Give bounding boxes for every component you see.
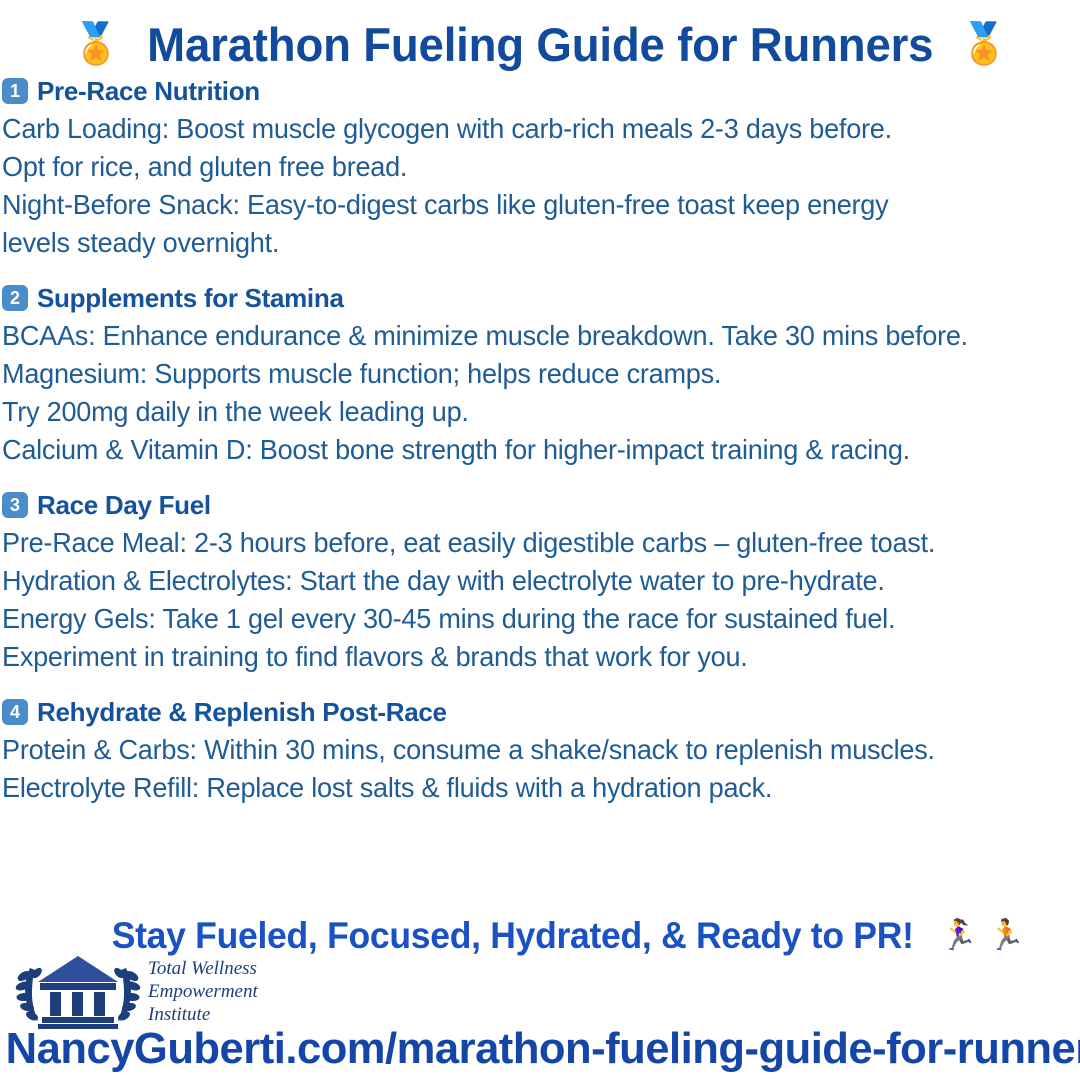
section-title: Rehydrate & Replenish Post-Race: [37, 697, 447, 728]
runner-woman-icon: 🏃‍♀️: [940, 921, 977, 951]
page-title: Marathon Fueling Guide for Runners: [147, 17, 933, 72]
sports-medal-icon-right: 🏅: [959, 24, 1009, 64]
section-body-line: Energy Gels: Take 1 gel every 30-45 mins…: [2, 600, 1060, 638]
section-body-line: Pre-Race Meal: 2-3 hours before, eat eas…: [2, 524, 1060, 562]
section-body-line: Opt for rice, and gluten free bread.: [2, 148, 1060, 186]
runner-man-icon: 🏃: [988, 921, 1025, 951]
section-title: Race Day Fuel: [37, 490, 211, 521]
section-pre-race-nutrition: 1 Pre-Race Nutrition Carb Loading: Boost…: [2, 74, 1076, 262]
section-header: 3 Race Day Fuel: [2, 488, 1076, 522]
section-title: Supplements for Stamina: [37, 283, 344, 314]
section-body-line: Try 200mg daily in the week leading up.: [2, 393, 1060, 431]
section-header: 2 Supplements for Stamina: [2, 281, 1076, 315]
sports-medal-icon-left: 🏅: [71, 24, 121, 64]
section-body-line: Hydration & Electrolytes: Start the day …: [2, 562, 1060, 600]
section-number-badge: 1: [2, 78, 28, 104]
section-header: 1 Pre-Race Nutrition: [2, 74, 1076, 108]
section-number-badge: 4: [2, 699, 28, 725]
section-number-badge: 2: [2, 285, 28, 311]
section-body-line: Calcium & Vitamin D: Boost bone strength…: [2, 431, 1060, 469]
section-body-line: Electrolyte Refill: Replace lost salts &…: [2, 769, 1060, 807]
section-body-line: Carb Loading: Boost muscle glycogen with…: [2, 110, 1060, 148]
section-body-line: Protein & Carbs: Within 30 mins, consume…: [2, 731, 1060, 769]
section-body-line: BCAAs: Enhance endurance & minimize musc…: [2, 317, 1060, 355]
brand-logo: Total Wellness Empowerment Institute: [14, 952, 258, 1030]
footer: Stay Fueled, Focused, Hydrated, & Ready …: [0, 912, 1080, 1080]
section-body-line: Magnesium: Supports muscle function; hel…: [2, 355, 1060, 393]
section-body-line: Night-Before Snack: Easy-to-digest carbs…: [2, 186, 1060, 224]
section-supplements-for-stamina: 2 Supplements for Stamina BCAAs: Enhance…: [2, 281, 1076, 469]
section-header: 4 Rehydrate & Replenish Post-Race: [2, 695, 1076, 729]
logo-wordmark: Total Wellness Empowerment Institute: [148, 957, 258, 1026]
section-race-day-fuel: 3 Race Day Fuel Pre-Race Meal: 2-3 hours…: [2, 488, 1076, 676]
temple-laurel-icon: [14, 952, 142, 1030]
website-url[interactable]: NancyGuberti.com/marathon-fueling-guide-…: [6, 1024, 1080, 1074]
infographic-page: 🏅 Marathon Fueling Guide for Runners 🏅 1…: [0, 0, 1080, 1080]
logo-line-1: Total Wellness: [148, 958, 257, 979]
section-number-badge: 3: [2, 492, 28, 518]
section-title: Pre-Race Nutrition: [37, 76, 260, 107]
section-rehydrate-replenish-post-race: 4 Rehydrate & Replenish Post-Race Protei…: [2, 695, 1076, 807]
logo-line-2: Empowerment: [148, 981, 258, 1002]
page-title-row: 🏅 Marathon Fueling Guide for Runners 🏅: [0, 0, 1080, 74]
sections-container: 1 Pre-Race Nutrition Carb Loading: Boost…: [0, 74, 1080, 807]
url-bar: NancyGuberti.com/marathon-fueling-guide-…: [0, 1024, 1080, 1074]
tagline-text: Stay Fueled, Focused, Hydrated, & Ready …: [112, 915, 914, 957]
section-body-line: Experiment in training to find flavors &…: [2, 638, 1060, 676]
logo-line-3: Institute: [148, 1004, 210, 1025]
section-body-line: levels steady overnight.: [2, 224, 1060, 262]
